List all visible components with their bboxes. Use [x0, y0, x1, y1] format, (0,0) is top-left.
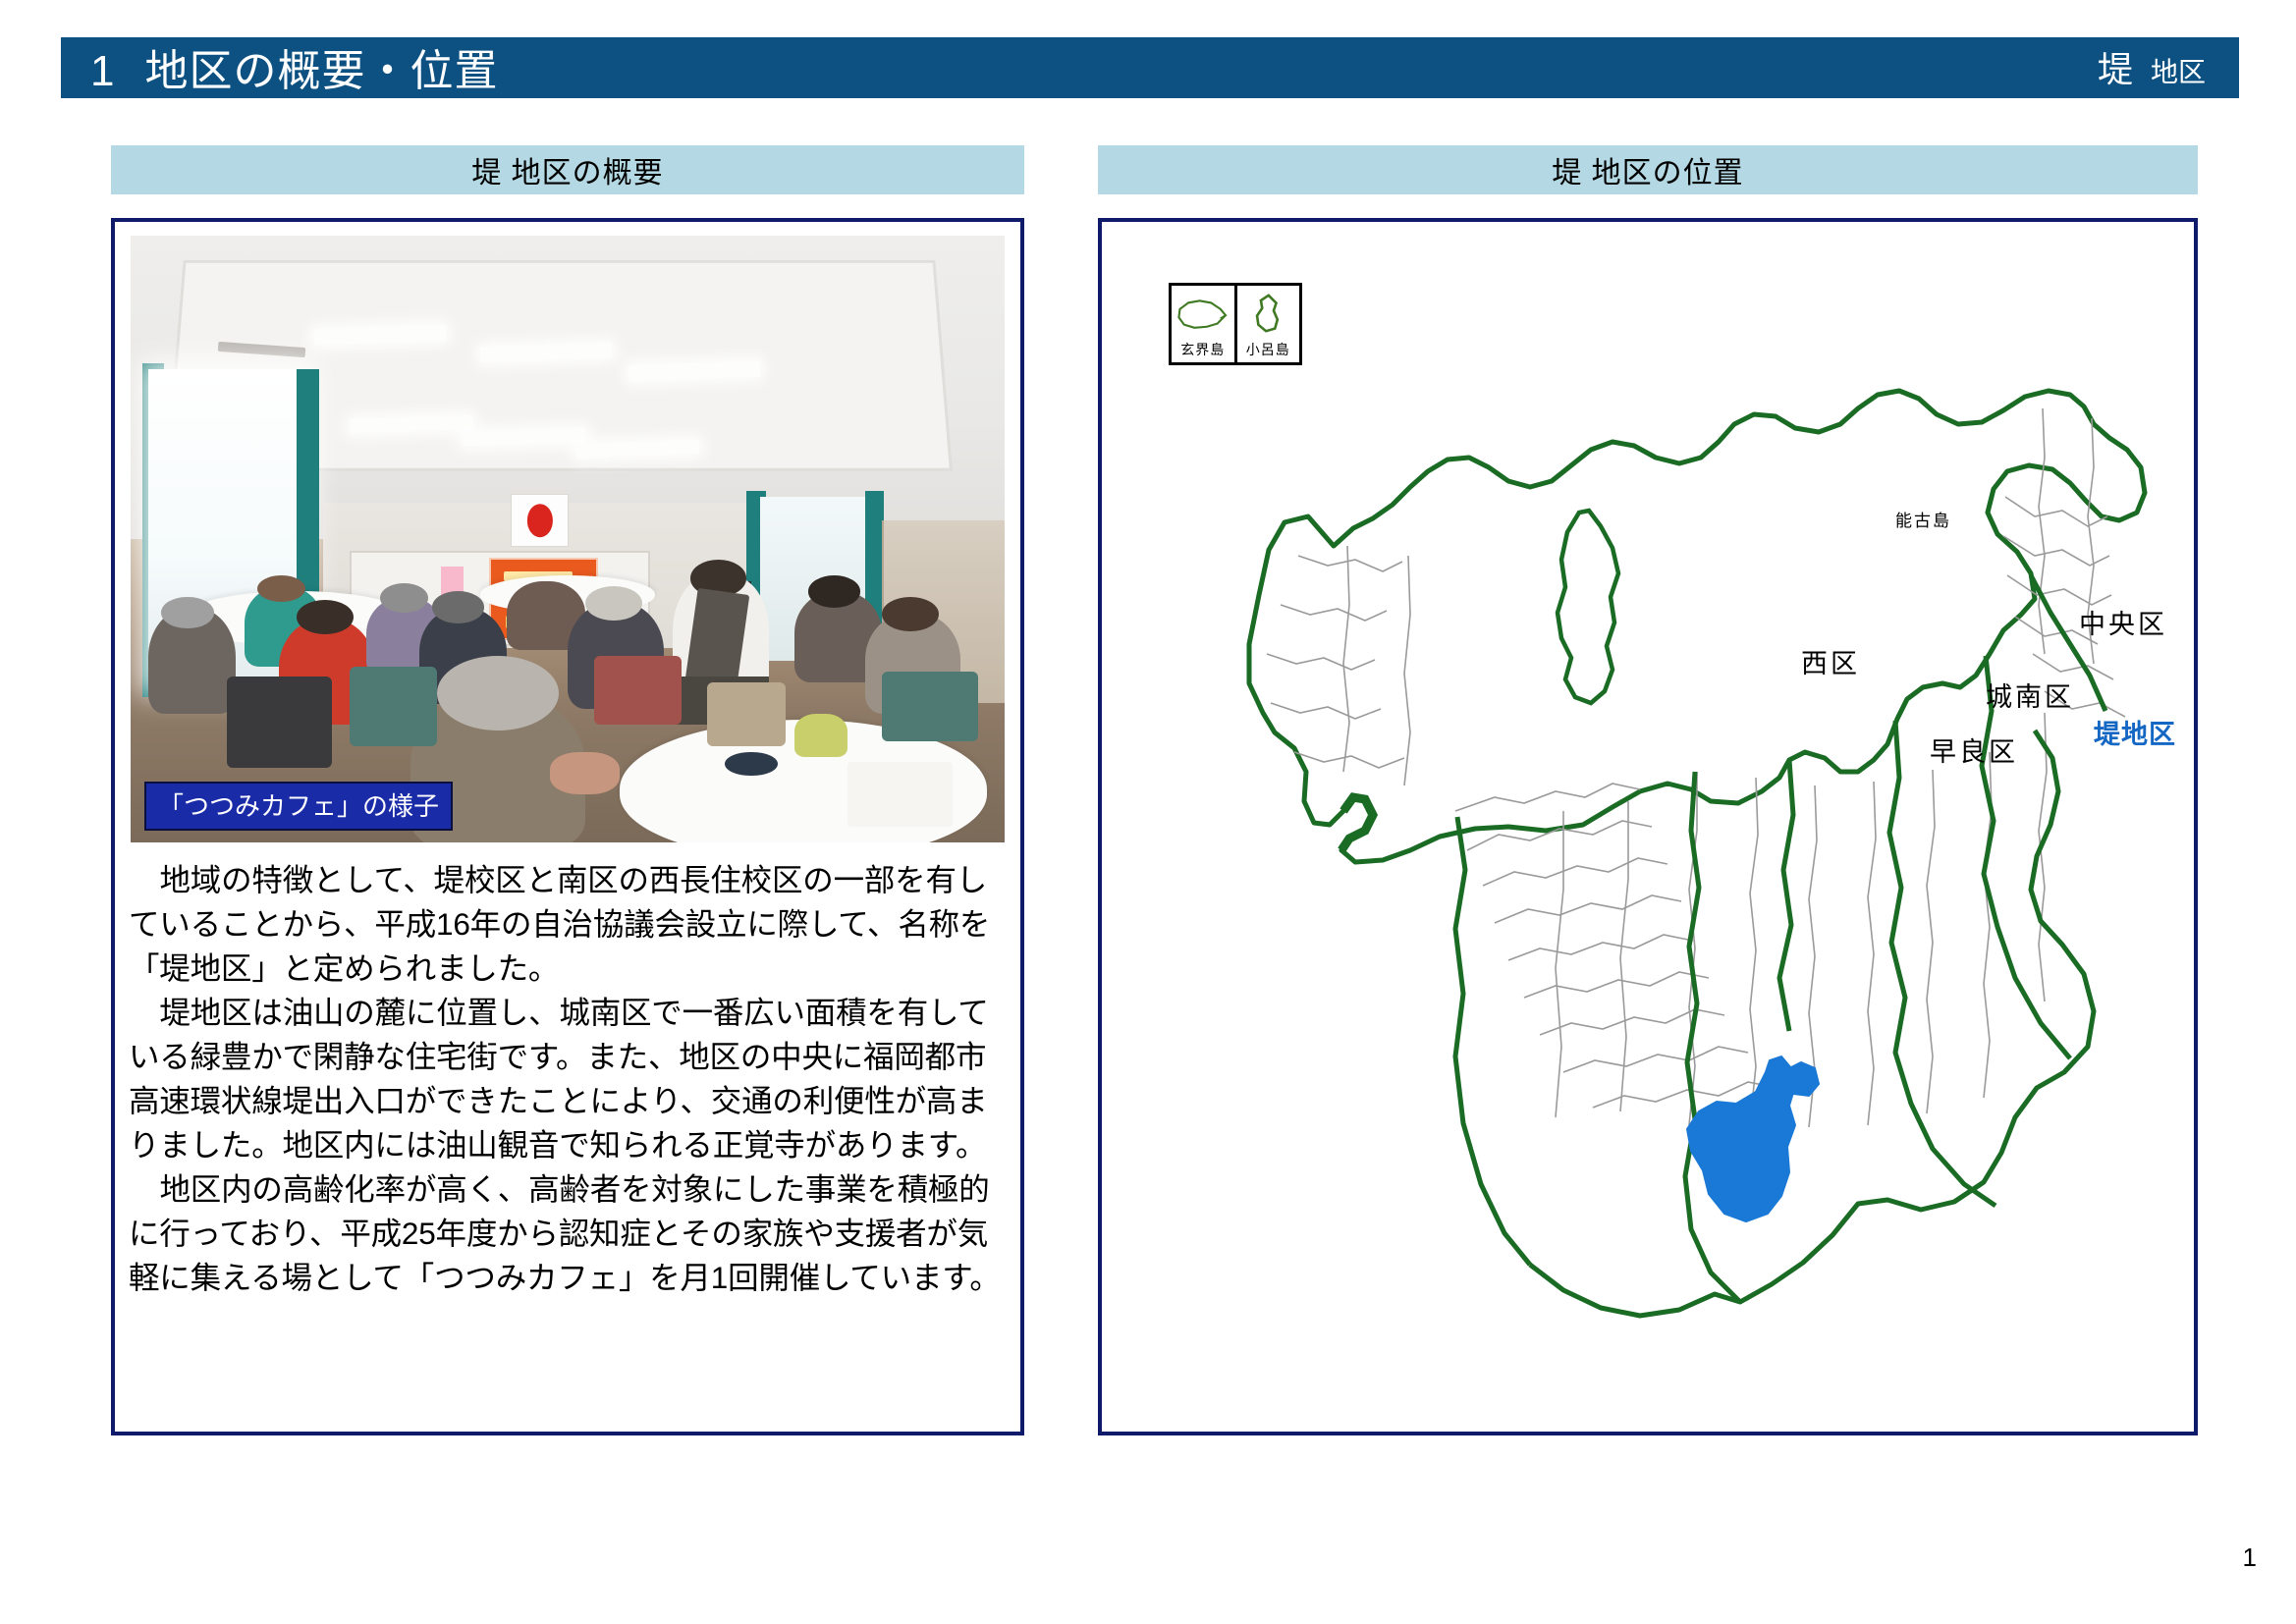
chair — [350, 667, 437, 747]
island-label-nokonoshima: 能古島 — [1895, 507, 1951, 531]
clapping-hands — [550, 752, 620, 795]
genkaijima-label: 玄界島 — [1180, 340, 1225, 362]
inset-orosjima: 小呂島 — [1237, 286, 1300, 362]
location-panel: 玄界島 小呂島 東区 博多区 中央区 西区 城南区 南区 早良区 能古島 堤地区 — [1098, 218, 2198, 1435]
highlight-label-tsutsumi: 堤地区 — [2094, 713, 2176, 751]
page-number: 1 — [2243, 1543, 2257, 1573]
ward-label-jonan: 城南区 — [1986, 676, 2074, 714]
community-cafe-photo: 「つつみカフェ」の様子 — [131, 236, 1005, 842]
photo-caption: 「つつみカフェ」の様子 — [144, 782, 453, 831]
page-header-bar: 1 地区の概要・位置 堤 地区 — [61, 37, 2239, 98]
person-head — [437, 656, 560, 731]
district-name: 堤 — [2098, 41, 2133, 92]
district-suffix: 地区 — [2151, 51, 2206, 90]
page-title: 地区の概要・位置 — [144, 35, 498, 98]
ward-label-nishi: 西区 — [1801, 642, 1860, 680]
paper-stack — [847, 762, 953, 826]
photo-background — [131, 236, 1005, 842]
tsutsumi-district-highlight — [1687, 1056, 1795, 1221]
inset-genkaijima: 玄界島 — [1172, 286, 1237, 362]
tsutsumi-district-highlight-north — [1789, 1062, 1819, 1096]
page-header-title-group: 1 地区の概要・位置 — [90, 35, 498, 98]
person-head — [432, 591, 484, 623]
person-head — [380, 583, 428, 613]
overview-body-text: 地域の特徴として、堤校区と南区の西長住校区の一部を有していることから、平成16年… — [129, 858, 1012, 1300]
bowl — [725, 752, 777, 776]
section-header-overview: 堤 地区の概要 — [111, 145, 1024, 194]
person-head — [808, 575, 860, 608]
chair — [227, 677, 332, 767]
map-svg — [1102, 222, 2194, 1432]
chair — [707, 682, 786, 746]
section-header-location: 堤 地区の位置 — [1098, 145, 2198, 194]
overview-paragraph: 地区内の高齢化率が高く、高齢者を対象にした事業を積極的に行っており、平成25年度… — [129, 1167, 1012, 1300]
overview-panel: 「つつみカフェ」の様子 地域の特徴として、堤校区と南区の西長住校区の一部を有して… — [111, 218, 1024, 1435]
chair — [882, 672, 978, 741]
genkaijima-shape — [1172, 288, 1234, 339]
person-head — [882, 597, 939, 631]
nokonoshima-island — [1558, 511, 1618, 703]
orojima-shape — [1237, 288, 1300, 339]
person-head — [297, 600, 354, 634]
page-header-number: 1 — [90, 47, 115, 96]
japan-flag — [511, 494, 569, 548]
person-head — [161, 597, 213, 629]
ward-label-sawara: 早良区 — [1930, 731, 2018, 769]
ward-label-chuo: 中央区 — [2079, 603, 2167, 641]
chair — [594, 656, 682, 726]
flower-arrangement — [794, 714, 847, 757]
orojima-label: 小呂島 — [1246, 340, 1290, 362]
page-header-district-group: 堤 地区 — [2098, 41, 2206, 92]
person-head — [585, 586, 642, 621]
overview-paragraph: 堤地区は油山の麓に位置し、城南区で一番広い面積を有している緑豊かで閑静な住宅街で… — [129, 991, 1012, 1167]
fukuoka-city-map: 玄界島 小呂島 東区 博多区 中央区 西区 城南区 南区 早良区 能古島 堤地区 — [1102, 222, 2194, 1432]
overview-paragraph: 地域の特徴として、堤校区と南区の西長住校区の一部を有していることから、平成16年… — [129, 858, 1012, 991]
island-inset-box: 玄界島 小呂島 — [1169, 283, 1302, 365]
